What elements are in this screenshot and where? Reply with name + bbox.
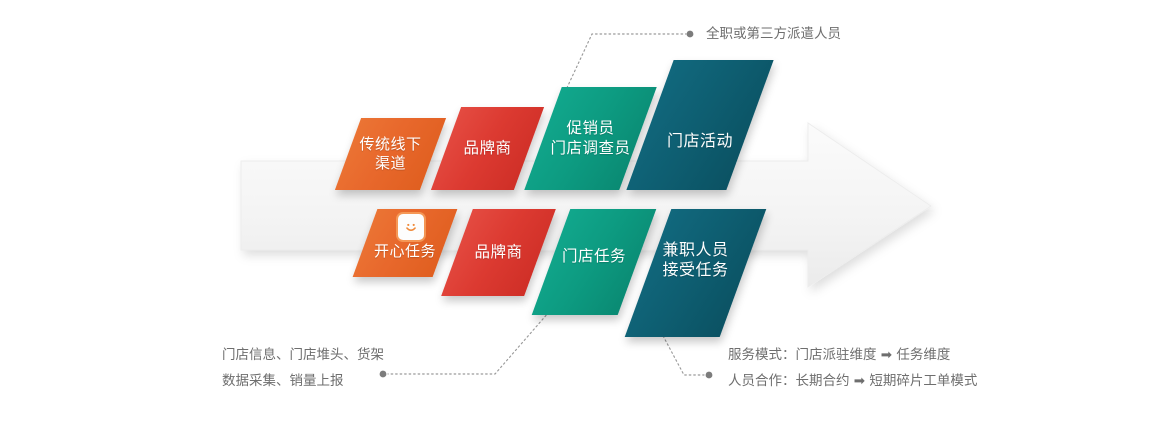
tile-label: 开心任务: [374, 242, 436, 261]
annotation-line: 服务模式：门店派驻维度 ➡ 任务维度: [728, 342, 977, 368]
tile-label: 传统线下 渠道: [359, 135, 421, 173]
tile-label: 品牌商: [463, 139, 511, 159]
tile-parttime-accept-task[interactable]: 兼职人员 接受任务: [648, 209, 743, 337]
annotation-line: 数据采集、销量上报: [222, 368, 384, 394]
tile-promoter-surveyor[interactable]: 促销员 门店调查员: [543, 87, 638, 190]
annotation-line: 门店信息、门店堆头、货架: [222, 342, 384, 368]
diagram-canvas: 传统线下 渠道 品牌商 促销员 门店调查员 门店活动 开心任务 品牌商 门店任务: [0, 0, 1150, 430]
tile-label: 门店任务: [562, 247, 626, 267]
tile-label: 门店活动: [667, 132, 733, 152]
tile-label: 兼职人员 接受任务: [662, 241, 728, 282]
tile-store-activity[interactable]: 门店活动: [650, 60, 750, 190]
tile-label: 品牌商: [474, 243, 522, 263]
tile-brand-owner-top[interactable]: 品牌商: [446, 107, 529, 190]
tile-brand-owner-bottom[interactable]: 品牌商: [457, 209, 540, 296]
tile-label: 促销员 门店调查员: [550, 119, 630, 159]
annotation-model-shift: 服务模式：门店派驻维度 ➡ 任务维度 人员合作：长期合约 ➡ 短期碎片工单模式: [728, 342, 977, 394]
annotation-line: 全职或第三方派遣人员: [706, 21, 841, 47]
smiley-icon: [398, 214, 424, 240]
annotation-staffing-type: 全职或第三方派遣人员: [706, 21, 841, 47]
tile-store-task[interactable]: 门店任务: [551, 209, 637, 315]
tile-traditional-offline-channel[interactable]: 传统线下 渠道: [348, 118, 433, 190]
annotation-task-scope: 门店信息、门店堆头、货架 数据采集、销量上报: [222, 342, 384, 394]
annotation-line: 人员合作：长期合约 ➡ 短期碎片工单模式: [728, 368, 977, 394]
tile-kaixin-task[interactable]: 开心任务: [365, 209, 445, 277]
